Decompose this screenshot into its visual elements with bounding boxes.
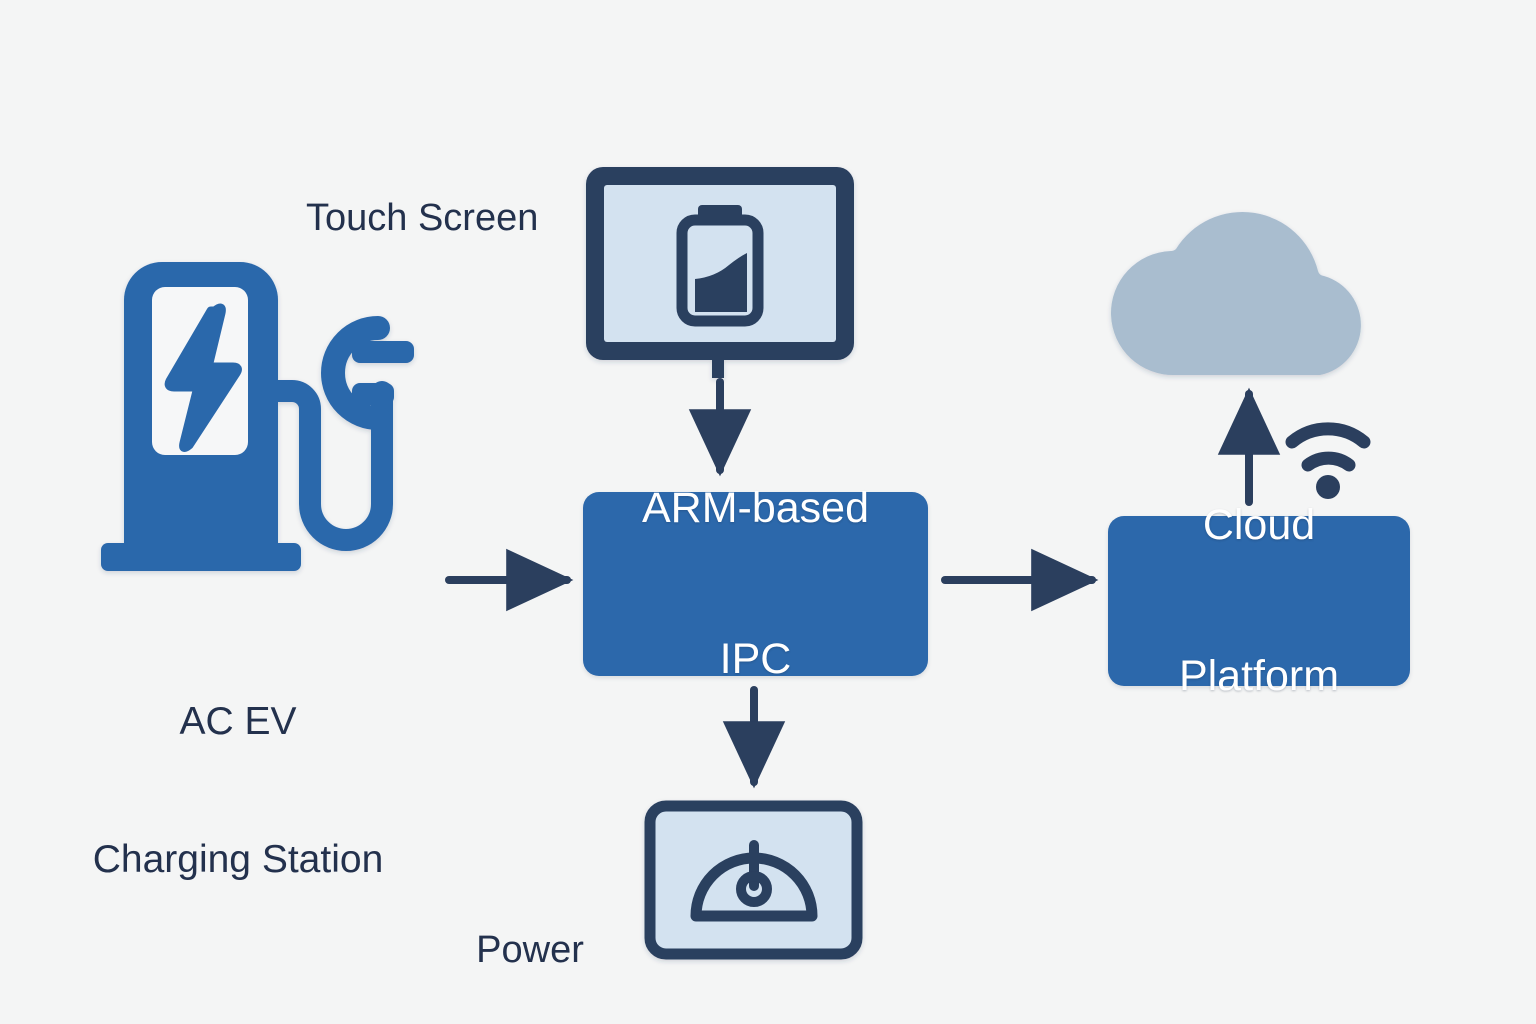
touch-screen-monitor-icon <box>586 167 854 378</box>
node-arm-based-ipc[interactable]: ARM-based IPC <box>583 492 928 676</box>
ev-station-label-line2: Charging Station <box>28 837 448 883</box>
cloud-platform-label-line1: Cloud <box>1179 500 1339 550</box>
ev-station-label-line1: AC EV <box>28 699 448 745</box>
node-cloud-platform[interactable]: Cloud Platform <box>1108 516 1410 686</box>
touch-screen-label: Touch Screen <box>306 196 538 241</box>
power-meter-label-line1: Power <box>440 928 620 973</box>
power-meter-gauge-icon <box>650 806 857 954</box>
ev-charging-station-icon <box>101 262 414 571</box>
arm-ipc-label: ARM-based IPC <box>642 383 869 785</box>
diagram-canvas: Touch Screen AC EV Charging Station Powe… <box>0 0 1536 1024</box>
cloud-icon <box>1111 212 1361 375</box>
cloud-platform-label-line2: Platform <box>1179 651 1339 701</box>
arm-ipc-label-line2: IPC <box>642 634 869 684</box>
arm-ipc-label-line1: ARM-based <box>642 483 869 533</box>
ev-station-label: AC EV Charging Station <box>28 607 448 975</box>
cloud-platform-label: Cloud Platform <box>1179 400 1339 802</box>
power-meter-label: Power Meter <box>440 838 620 1024</box>
